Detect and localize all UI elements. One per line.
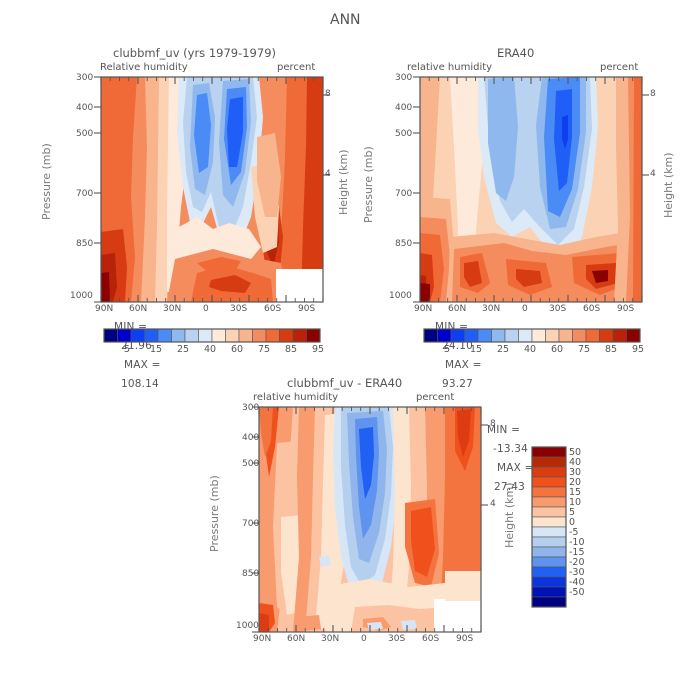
panel-model-ytick: 1000: [70, 291, 93, 301]
panel-diff-ytick: 850: [242, 569, 259, 579]
colorbar-swatch: [627, 329, 641, 342]
panel-model-ytick: 850: [76, 239, 93, 249]
colorbar-swatch: [546, 329, 560, 342]
panel-obs-xtick: 60S: [583, 304, 600, 314]
colorbar-swatch: [532, 597, 566, 607]
panel-diff-minmax: MIN = -13.34 MAX = 27.43: [487, 418, 534, 494]
panel-diff-xtick: 30S: [388, 634, 405, 644]
colorbar-swatch: [532, 577, 566, 587]
colorbar-swatch: [600, 329, 614, 342]
colorbar-swatch: [280, 329, 294, 342]
panel-obs-ytick: 1000: [389, 291, 412, 301]
cb-label: 85: [285, 344, 297, 355]
colorbar-swatch: [532, 537, 566, 547]
panel-obs-y2axis-ticks: [642, 95, 649, 175]
panel-model-y2axis-ticks: [323, 95, 330, 175]
panel-obs-plot: [420, 77, 642, 302]
panel-model-title: clubbmf_uv (yrs 1979-1979): [113, 46, 276, 60]
panel-obs-xtick: 90S: [617, 304, 634, 314]
panel-model-ytick: 300: [76, 73, 93, 83]
colorbar-swatch: [226, 329, 240, 342]
colorbar-swatch: [185, 329, 199, 342]
cb-label: 75: [258, 344, 270, 355]
colorbar-difference-swatches: [532, 447, 566, 607]
cb-label: 15: [150, 344, 162, 355]
panel-obs-xtick: 30S: [549, 304, 566, 314]
panel-obs-xtick: 60N: [448, 304, 466, 314]
cb-label: 95: [632, 344, 644, 355]
panel-model-subtitle-left: Relative humidity: [100, 62, 188, 73]
panel-model-plot: [101, 77, 323, 302]
colorbar-swatch: [212, 329, 226, 342]
min-label: MIN =: [487, 424, 520, 436]
colorbar-swatch: [532, 329, 546, 342]
panel-obs-xtick: 90N: [414, 304, 432, 314]
panel-diff-ytick: 300: [242, 403, 259, 413]
cb-label: 15: [470, 344, 482, 355]
colorbar-swatch: [532, 507, 566, 517]
colorbar-swatch: [158, 329, 172, 342]
panel-obs-ytick: 500: [395, 129, 412, 139]
colorbar-swatch: [307, 329, 321, 342]
max-value: 108.14: [121, 378, 159, 390]
colorbar-swatch: [478, 329, 492, 342]
colorbar-swatch: [465, 329, 479, 342]
panel-model-xtick: 30S: [230, 304, 247, 314]
min-value: -13.34: [493, 443, 528, 455]
cb-label: 40: [524, 344, 536, 355]
colorbar-absolute-left: [104, 329, 320, 342]
colorbar-swatch: [532, 527, 566, 537]
cb-label: 95: [312, 344, 324, 355]
panel-obs-y2tick: 8: [650, 89, 656, 99]
panel-diff-xtick: 30N: [321, 634, 339, 644]
colorbar-swatch: [532, 457, 566, 467]
colorbar-swatch: [145, 329, 159, 342]
colorbar-swatch: [532, 557, 566, 567]
colorbar-swatch: [532, 587, 566, 597]
panel-obs-ytick: 400: [395, 103, 412, 113]
panel-diff-xtick: 90S: [456, 634, 473, 644]
colorbar-swatch: [532, 447, 566, 457]
colorbar-swatch: [118, 329, 132, 342]
colorbar-swatch: [532, 517, 566, 527]
panel-model-xtick: 0: [203, 304, 209, 314]
cb-label: 85: [605, 344, 617, 355]
colorbar-swatch: [532, 547, 566, 557]
cb-label: -50: [569, 587, 585, 598]
cb-label: 60: [231, 344, 243, 355]
panel-obs-subtitle-right: percent: [600, 62, 638, 73]
panel-obs-xtick: 30N: [482, 304, 500, 314]
colorbar-swatch: [532, 477, 566, 487]
panel-obs-ytick: 300: [395, 73, 412, 83]
panel-diff-y2tick: 4: [490, 499, 496, 509]
colorbar-swatch: [559, 329, 573, 342]
panel-obs-y2axis-label: Height (km): [662, 152, 675, 218]
colorbar-swatch: [532, 467, 566, 477]
colorbar-swatch: [519, 329, 533, 342]
colorbar-swatch: [104, 329, 118, 342]
colorbar-difference: [532, 447, 566, 607]
colorbar-swatch: [239, 329, 253, 342]
panel-diff-plot: [259, 407, 481, 632]
panel-diff-ytick: 700: [242, 519, 259, 529]
contour-fill-diff: [259, 407, 481, 632]
panel-obs-ytick: 700: [395, 189, 412, 199]
panel-model-y2tick: 4: [325, 169, 331, 179]
panel-diff-xtick: 60S: [422, 634, 439, 644]
panel-model-xtick: 30N: [163, 304, 181, 314]
panel-obs-y2tick: 4: [650, 169, 656, 179]
colorbar-swatch: [573, 329, 587, 342]
colorbar-swatch: [613, 329, 627, 342]
panel-diff-title: clubbmf_uv - ERA40: [287, 376, 402, 390]
colorbar-swatch: [492, 329, 506, 342]
panel-diff-xtick: 0: [361, 634, 367, 644]
max-value: 27.43: [494, 481, 525, 493]
cb-label: 40: [204, 344, 216, 355]
colorbar-swatch: [266, 329, 280, 342]
panel-obs-xtick: 0: [522, 304, 528, 314]
panel-diff-ytick: 500: [242, 459, 259, 469]
panel-model-ytick: 400: [76, 103, 93, 113]
max-label: MAX =: [497, 462, 534, 474]
panel-model-yaxis-label: Pressure (mb): [40, 143, 53, 220]
cb-label: 5: [124, 344, 130, 355]
cb-label: 5: [444, 344, 450, 355]
panel-model-xtick: 90S: [298, 304, 315, 314]
panel-model-y2axis-label: Height (km): [337, 149, 350, 215]
panel-model-ytick: 500: [76, 129, 93, 139]
max-value: 93.27: [442, 378, 473, 390]
panel-diff-ytick: 1000: [236, 621, 259, 631]
cb-label: 25: [497, 344, 509, 355]
panel-diff-subtitle-right: percent: [416, 392, 454, 403]
max-label: MAX =: [124, 359, 161, 371]
panel-diff-ytick: 400: [242, 433, 259, 443]
cb-label: 25: [177, 344, 189, 355]
cb-label: 75: [578, 344, 590, 355]
colorbar-swatch: [293, 329, 307, 342]
colorbar-absolute-left-swatches: [104, 329, 320, 342]
colorbar-swatch: [172, 329, 186, 342]
panel-diff-yaxis-label: Pressure (mb): [208, 475, 221, 552]
colorbar-swatch: [586, 329, 600, 342]
panel-diff-xtick: 60N: [287, 634, 305, 644]
panel-model-yaxis-ticks: [94, 77, 101, 302]
panel-model-y2tick: 8: [325, 89, 331, 99]
panel-model-subtitle-right: percent: [277, 62, 315, 73]
contour-fill-model: [101, 77, 323, 302]
colorbar-absolute-left-labels: 5 15 25 40 60 75 85 95: [104, 344, 320, 358]
max-label: MAX =: [445, 359, 482, 371]
panel-obs-subtitle-left: relative humidity: [407, 62, 492, 73]
colorbar-swatch: [532, 487, 566, 497]
colorbar-swatch: [532, 497, 566, 507]
colorbar-swatch: [199, 329, 213, 342]
page-title: ANN: [330, 12, 361, 28]
panel-obs-yaxis-label: Pressure (mb): [362, 146, 375, 223]
contour-fill-obs: [420, 77, 642, 302]
colorbar-swatch: [253, 329, 267, 342]
panel-obs-title: ERA40: [497, 46, 534, 60]
colorbar-absolute-right-labels: 5 15 25 40 60 75 85 95: [424, 344, 640, 358]
panel-model-xtick: 60N: [129, 304, 147, 314]
colorbar-difference-labels: 50 40 30 20 15 10 5 0 -5 -10 -15 -20 -30…: [569, 442, 605, 612]
panel-model-ytick: 700: [76, 189, 93, 199]
cb-label: 60: [551, 344, 563, 355]
panel-model-xtick: 90N: [95, 304, 113, 314]
panel-diff-subtitle-left: relative humidity: [253, 392, 338, 403]
panel-diff-xtick: 90N: [253, 634, 271, 644]
colorbar-swatch: [505, 329, 519, 342]
colorbar-swatch: [532, 567, 566, 577]
colorbar-swatch: [131, 329, 145, 342]
colorbar-swatch: [451, 329, 465, 342]
colorbar-absolute-right: [424, 329, 640, 342]
panel-obs-yaxis-ticks: [413, 77, 420, 302]
colorbar-swatch: [438, 329, 452, 342]
colorbar-absolute-right-swatches: [424, 329, 640, 342]
panel-obs-ytick: 850: [395, 239, 412, 249]
panel-model-xtick: 60S: [264, 304, 281, 314]
colorbar-swatch: [424, 329, 438, 342]
